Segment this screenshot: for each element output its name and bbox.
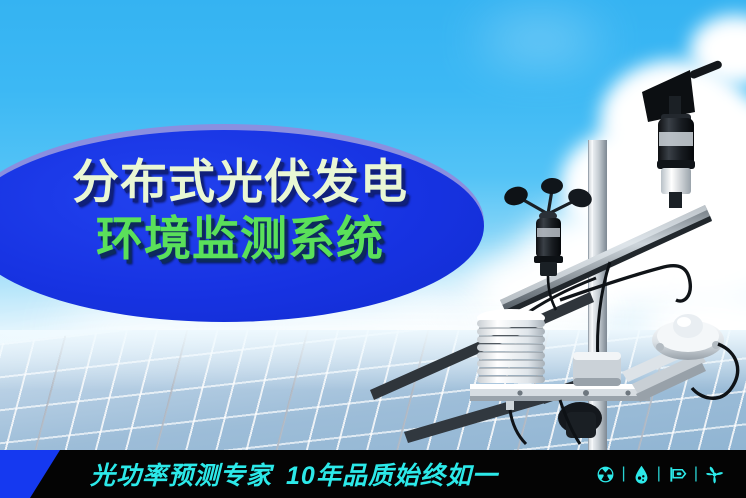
title-line-1: 分布式光伏发电 <box>40 158 440 205</box>
icon-separator: | <box>694 465 698 483</box>
radiation-shield-sensor <box>477 309 545 444</box>
pyranometer-sensor <box>622 314 738 402</box>
junction-box <box>558 402 602 438</box>
wind-vane-sensor <box>642 60 723 208</box>
footer-sensor-icons: | | | <box>596 450 724 498</box>
wind-direction-vane-icon <box>668 465 687 484</box>
footer-slogan: 光功率预测专家 10年品质始终如一 <box>90 450 498 498</box>
mast-clamp <box>573 352 621 386</box>
icon-separator: | <box>657 465 661 483</box>
footer-slogan-sub: 10年品质始终如一 <box>286 456 498 492</box>
title-line-2: 环境监测系统 <box>40 215 440 262</box>
icon-separator: | <box>622 465 626 483</box>
sensor-cable <box>510 410 526 444</box>
promo-banner: 分布式光伏发电 环境监测系统 光功率预测专家 10年品质始终如一 | <box>0 0 746 498</box>
solar-radiation-icon <box>596 465 615 484</box>
wind-speed-fan-icon <box>705 465 724 484</box>
mount-cross-bar <box>470 384 650 401</box>
footer-bar: 光功率预测专家 10年品质始终如一 | <box>0 450 746 498</box>
page-title: 分布式光伏发电 环境监测系统 <box>40 158 440 262</box>
humidity-drop-icon <box>633 465 650 484</box>
footer-blue-tab <box>0 450 60 498</box>
footer-slogan-main: 光功率预测专家 <box>90 456 272 492</box>
